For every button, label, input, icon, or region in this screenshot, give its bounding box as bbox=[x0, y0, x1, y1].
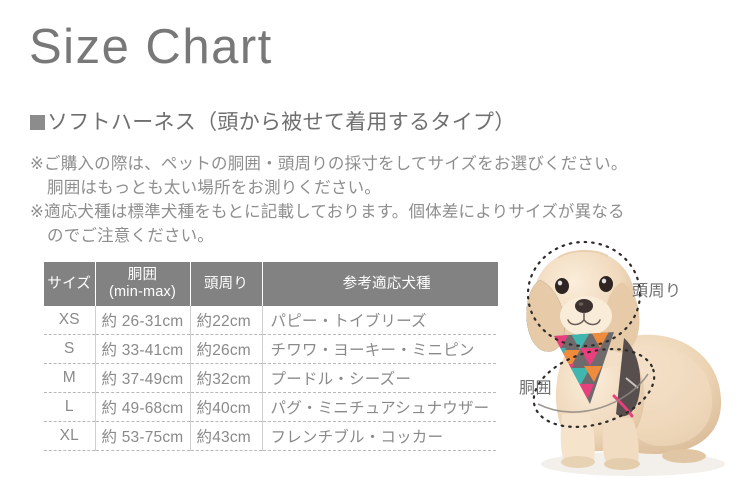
table-header-size-label: サイズ bbox=[47, 276, 91, 292]
photo-label-chest-circumference: 胴囲 bbox=[519, 374, 552, 398]
cell-breed: プードル・シーズー bbox=[262, 364, 511, 393]
subtitle-row: ソフトハーネス（頭から被せて着用するタイプ） bbox=[30, 112, 516, 133]
square-bullet-icon bbox=[30, 115, 45, 130]
cell-chest: 約 33-41cm bbox=[95, 335, 190, 364]
table-header-head-label: 頭周り bbox=[204, 276, 248, 292]
cell-chest: 約 26-31cm bbox=[95, 306, 190, 335]
cell-chest: 約 53-75cm bbox=[95, 422, 190, 451]
cell-size: XL bbox=[44, 422, 95, 451]
table-header-chest-label: 胴囲 bbox=[128, 267, 157, 283]
table-header-row: サイズ 胴囲 (min-max) 頭周り 参考適応犬種 bbox=[44, 262, 511, 306]
cell-breed: パピー・トイブリーズ bbox=[262, 306, 511, 335]
cell-size: XS bbox=[44, 306, 95, 335]
cell-head: 約43cm bbox=[190, 422, 262, 451]
subtitle-text: ソフトハーネス（頭から被せて着用するタイプ） bbox=[47, 112, 516, 133]
table-row: XS 約 26-31cm 約22cm パピー・トイブリーズ bbox=[44, 306, 511, 335]
table-header-size: サイズ bbox=[44, 262, 95, 306]
table-header-breed-label: 参考適応犬種 bbox=[343, 276, 431, 292]
table-header-chest: 胴囲 (min-max) bbox=[95, 262, 190, 306]
dog-photo bbox=[498, 228, 750, 482]
cell-breed: チワワ・ヨーキー・ミニピン bbox=[262, 335, 511, 364]
note-item: ※ご購入の際は、ペットの胴囲・頭周りの採寸をしてサイズをお選びください。 胴囲は… bbox=[30, 152, 730, 200]
table-header-chest-sublabel: (min-max) bbox=[98, 284, 188, 301]
table-row: S 約 33-41cm 約26cm チワワ・ヨーキー・ミニピン bbox=[44, 335, 511, 364]
cell-size: L bbox=[44, 393, 95, 422]
cell-head: 約32cm bbox=[190, 364, 262, 393]
size-table-container: サイズ 胴囲 (min-max) 頭周り 参考適応犬種 XS 約 26-31cm… bbox=[44, 262, 511, 451]
note-line: 胴囲はもっとも太い場所をお測りください。 bbox=[30, 176, 730, 200]
cell-size: M bbox=[44, 364, 95, 393]
cell-size: S bbox=[44, 335, 95, 364]
cell-breed: フレンチブル・コッカー bbox=[262, 422, 511, 451]
cell-chest: 約 49-68cm bbox=[95, 393, 190, 422]
page-title: Size Chart bbox=[29, 18, 273, 77]
table-row: L 約 49-68cm 約40cm パグ・ミニチュアシュナウザー bbox=[44, 393, 511, 422]
table-row: M 約 37-49cm 約32cm プードル・シーズー bbox=[44, 364, 511, 393]
note-line: ※適応犬種は標準犬種をもとに記載しております。個体差によりサイズが異なる bbox=[30, 200, 730, 224]
table-row: XL 約 53-75cm 約43cm フレンチブル・コッカー bbox=[44, 422, 511, 451]
table-header-head: 頭周り bbox=[190, 262, 262, 306]
cell-chest: 約 37-49cm bbox=[95, 364, 190, 393]
cell-head: 約22cm bbox=[190, 306, 262, 335]
cell-breed: パグ・ミニチュアシュナウザー bbox=[262, 393, 511, 422]
cell-head: 約26cm bbox=[190, 335, 262, 364]
note-line: ※ご購入の際は、ペットの胴囲・頭周りの採寸をしてサイズをお選びください。 bbox=[30, 152, 730, 176]
size-table: サイズ 胴囲 (min-max) 頭周り 参考適応犬種 XS 約 26-31cm… bbox=[44, 262, 511, 451]
cell-head: 約40cm bbox=[190, 393, 262, 422]
table-header-breed: 参考適応犬種 bbox=[262, 262, 511, 306]
photo-label-head-circumference: 頭周り bbox=[632, 277, 682, 301]
